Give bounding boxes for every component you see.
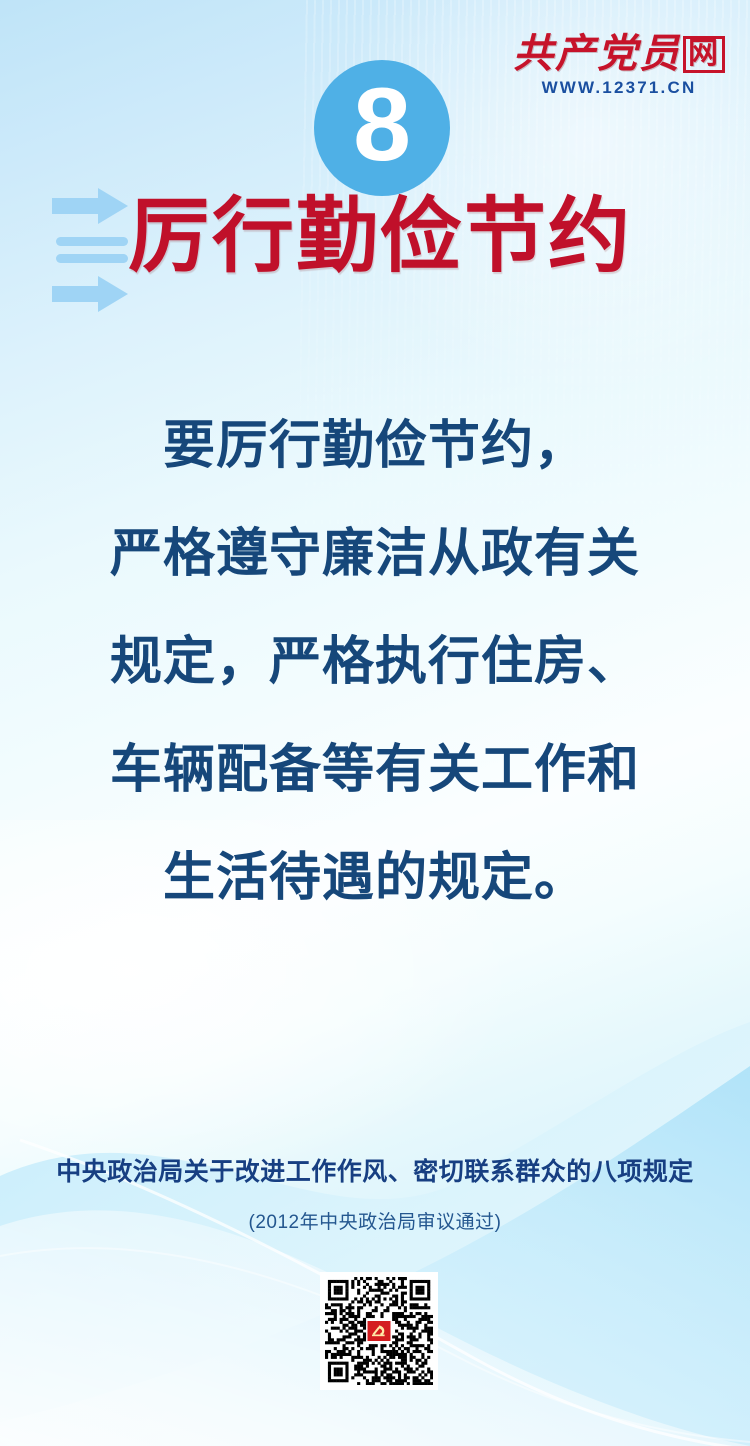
logo-wordmark: 共产党员网 xyxy=(512,34,726,74)
page-title: 厉行勤俭节约 xyxy=(128,192,668,282)
hammer-sickle-glyph xyxy=(371,1324,388,1338)
rule-number-text: 8 xyxy=(314,60,450,196)
body-line: 要厉行勤俭节约， xyxy=(0,392,750,500)
body-line: 规定，严格执行住房、 xyxy=(0,608,750,716)
poster-canvas: 共产党员网 WWW.12371.CN 8 厉行勤俭节约 要厉行勤俭节约， 严格遵… xyxy=(0,0,750,1446)
arrow-decoration-icon xyxy=(52,188,132,312)
body-line: 生活待遇的规定。 xyxy=(0,824,750,932)
body-line: 车辆配备等有关工作和 xyxy=(0,716,750,824)
footer-title: 中央政治局关于改进工作作风、密切联系群众的八项规定 xyxy=(0,1152,750,1188)
footer-subtitle: (2012年中央政治局审议通过) xyxy=(0,1207,750,1234)
rule-number-badge: 8 xyxy=(314,60,450,196)
logo-url: WWW.12371.CN xyxy=(512,78,726,98)
body-copy: 要厉行勤俭节约， 严格遵守廉洁从政有关 规定，严格执行住房、 车辆配备等有关工作… xyxy=(0,392,750,932)
logo-brand-text: 共产党员 xyxy=(513,31,681,76)
party-emblem-icon xyxy=(367,1320,392,1342)
body-line: 严格遵守廉洁从政有关 xyxy=(0,500,750,608)
site-logo[interactable]: 共产党员网 WWW.12371.CN xyxy=(512,34,726,98)
logo-boxed-char: 网 xyxy=(683,36,725,73)
qr-code[interactable] xyxy=(320,1272,438,1390)
